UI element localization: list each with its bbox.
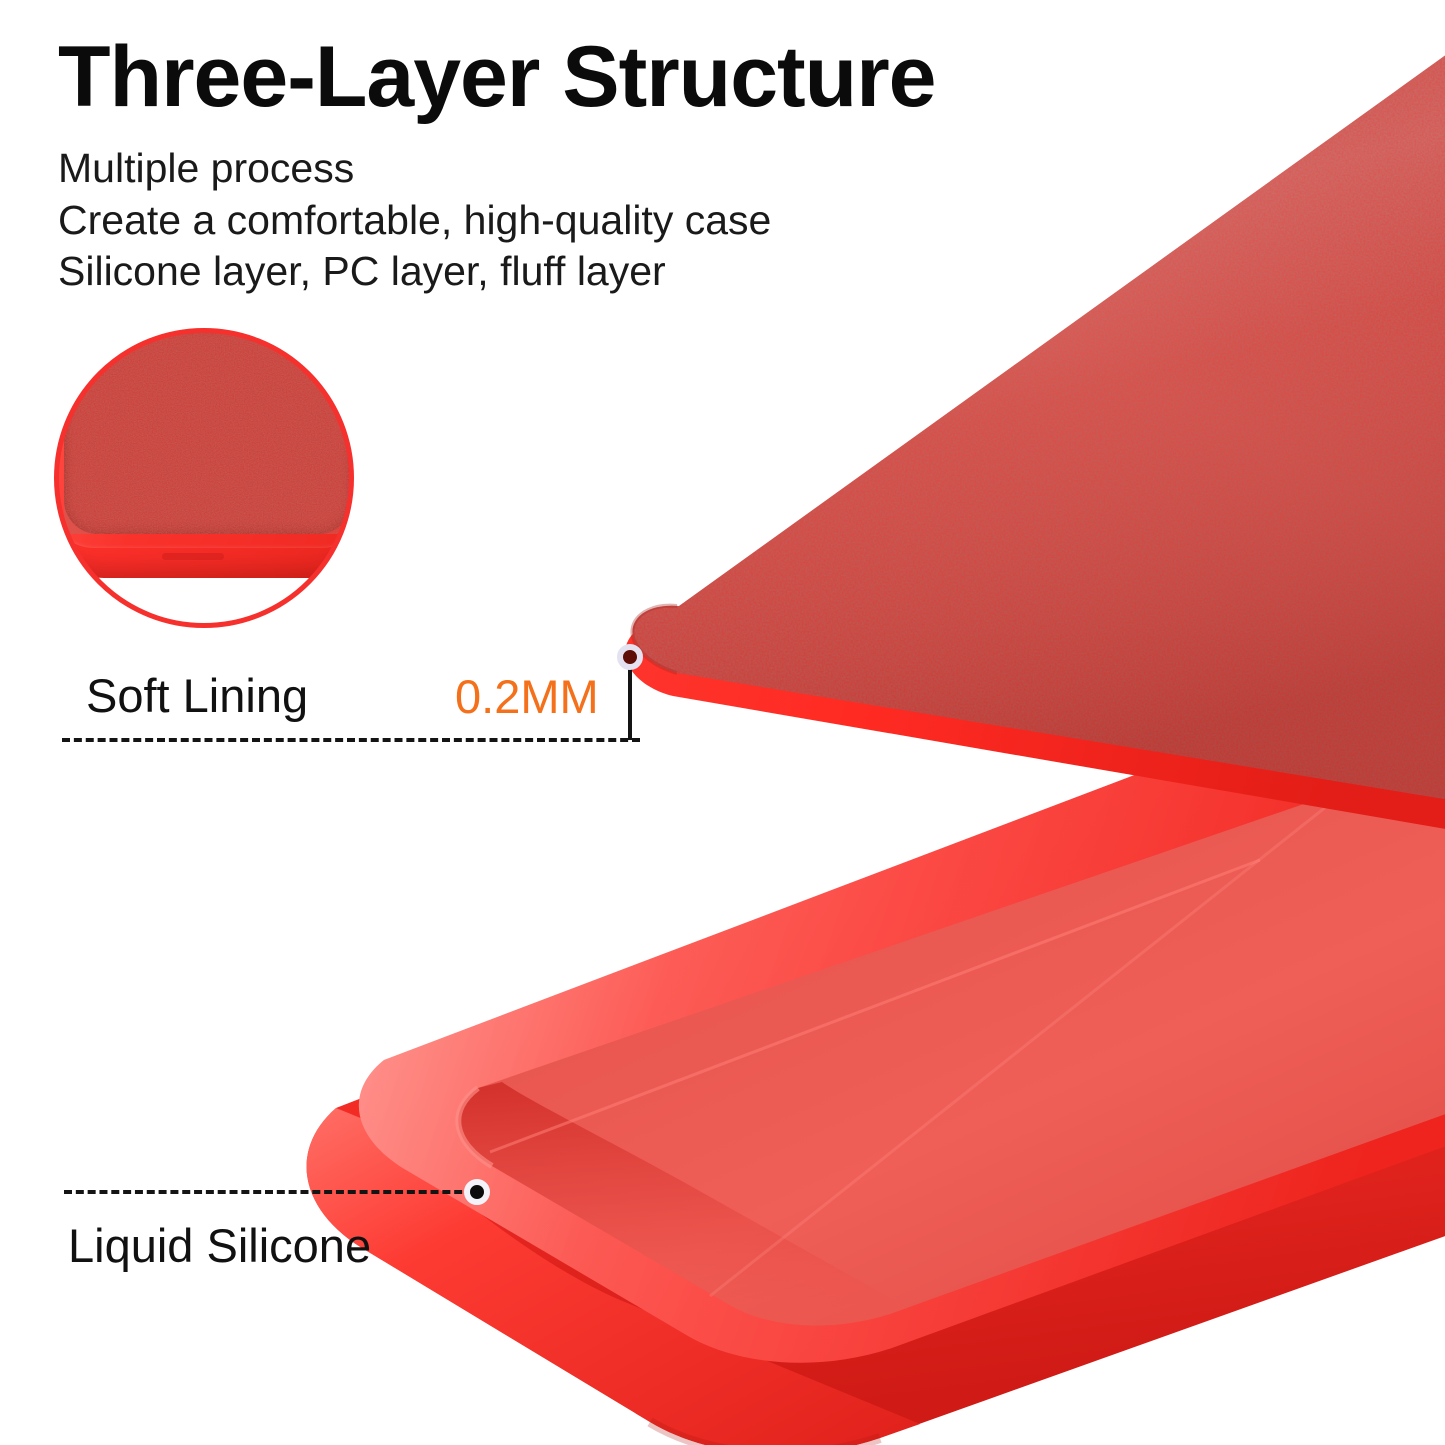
soft-lining-thickness-value: 0.2MM [455, 673, 599, 720]
soft-lining-leader-line [62, 738, 640, 742]
fluff-panel-art [415, 44, 1445, 844]
callout-dot-icon-liquid-silicone [464, 1179, 490, 1205]
liquid-silicone-leader-line [64, 1190, 474, 1194]
soft-lining-label: Soft Lining [86, 672, 308, 719]
magnifier-ring [54, 328, 354, 628]
callout-dot-icon-soft-lining [617, 644, 643, 670]
soft-lining-leader-riser [628, 660, 632, 740]
liquid-silicone-label: Liquid Silicone [68, 1222, 371, 1269]
subtitle-line-1: Multiple process [58, 148, 354, 189]
product-infographic: Three-Layer Structure Multiple process C… [0, 0, 1445, 1445]
magnifier-circle-icon [54, 328, 354, 628]
fluff-layer-panel [415, 44, 1445, 844]
